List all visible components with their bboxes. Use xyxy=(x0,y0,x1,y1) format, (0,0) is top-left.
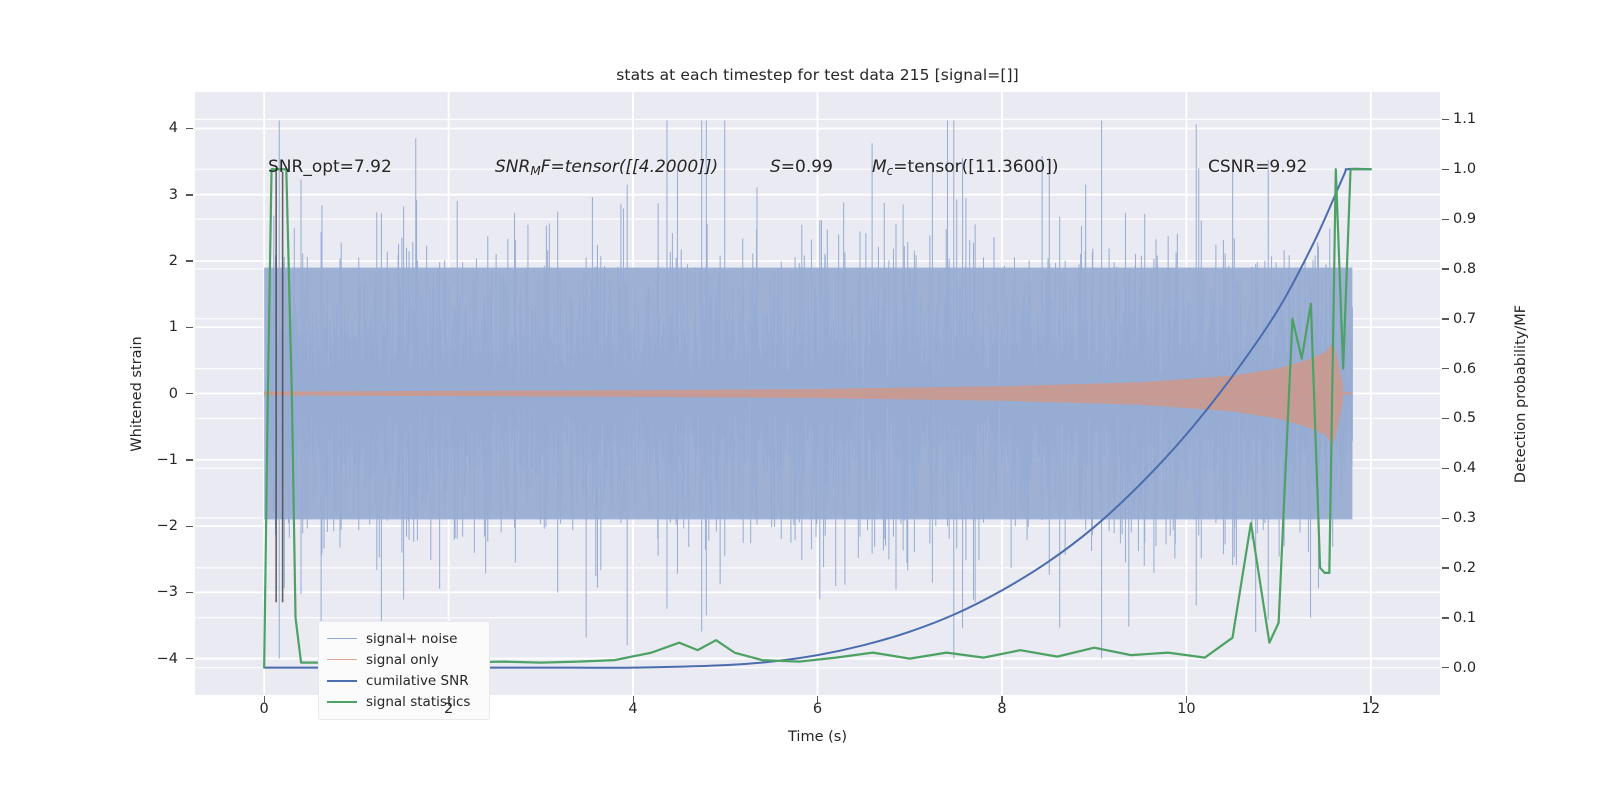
y-tick-mark xyxy=(186,459,193,460)
chart-title: stats at each timestep for test data 215… xyxy=(195,66,1440,84)
y-tick-label: 1 xyxy=(140,319,178,335)
y-tick-label: 3 xyxy=(140,187,178,203)
y2-tick-mark xyxy=(1442,219,1449,220)
y-tick-mark xyxy=(186,526,193,527)
y2-tick-label: 0.8 xyxy=(1453,261,1476,277)
x-axis-label: Time (s) xyxy=(788,729,847,745)
y2-tick-mark xyxy=(1442,468,1449,469)
x-tick-label: 12 xyxy=(1362,701,1380,717)
x-tick-mark xyxy=(264,696,265,703)
y2-tick-mark xyxy=(1442,368,1449,369)
legend-swatch-cumulative-snr xyxy=(327,680,357,682)
x-tick-mark xyxy=(448,696,449,703)
y-tick-label: 2 xyxy=(140,253,178,269)
y-tick-mark xyxy=(186,592,193,593)
y-tick-mark xyxy=(186,658,193,659)
y2-tick-label: 0.4 xyxy=(1453,460,1476,476)
x-tick-label: 8 xyxy=(997,701,1006,717)
legend[interactable]: signal+ noise signal only cumilative SNR… xyxy=(318,621,490,720)
y2-tick-label: 0.6 xyxy=(1453,361,1476,377)
y-tick-mark xyxy=(186,393,193,394)
y-tick-label: 4 xyxy=(140,120,178,136)
y2-tick-mark xyxy=(1442,667,1449,668)
legend-label-cumulative-snr: cumilative SNR xyxy=(366,673,469,689)
legend-item-signal-statistics[interactable]: signal statistics xyxy=(327,691,481,712)
legend-item-signal-noise[interactable]: signal+ noise xyxy=(327,628,481,649)
x-tick-mark xyxy=(1370,696,1371,703)
x-tick-mark xyxy=(633,696,634,703)
x-tick-label: 2 xyxy=(444,701,453,717)
y-tick-label: −4 xyxy=(140,651,178,667)
y2-tick-mark xyxy=(1442,418,1449,419)
figure-canvas: stats at each timestep for test data 215… xyxy=(0,0,1600,800)
y2-tick-mark xyxy=(1442,169,1449,170)
y-tick-label: −2 xyxy=(140,518,178,534)
y-tick-mark xyxy=(186,327,193,328)
plot-svg xyxy=(195,92,1440,695)
y2-tick-mark xyxy=(1442,567,1449,568)
x-tick-label: 10 xyxy=(1177,701,1195,717)
y2-tick-mark xyxy=(1442,318,1449,319)
y2-tick-mark xyxy=(1442,119,1449,120)
y-tick-label: −3 xyxy=(140,584,178,600)
y-tick-label: −1 xyxy=(140,452,178,468)
y2-tick-mark xyxy=(1442,268,1449,269)
legend-item-cumulative-snr[interactable]: cumilative SNR xyxy=(327,670,481,691)
x-tick-mark xyxy=(1186,696,1187,703)
y2-tick-label: 0.0 xyxy=(1453,660,1476,676)
legend-label-signal-only: signal only xyxy=(366,652,439,668)
x-tick-label: 4 xyxy=(628,701,637,717)
y-tick-mark xyxy=(186,128,193,129)
y2-tick-label: 0.3 xyxy=(1453,510,1476,526)
y2-tick-mark xyxy=(1442,617,1449,618)
y2-tick-label: 0.1 xyxy=(1453,610,1476,626)
legend-label-signal-statistics: signal statistics xyxy=(366,694,470,710)
y2-tick-label: 0.9 xyxy=(1453,211,1476,227)
y-tick-mark xyxy=(186,260,193,261)
y2-tick-label: 0.2 xyxy=(1453,560,1476,576)
y2-tick-label: 1.0 xyxy=(1453,161,1476,177)
y-tick-label: 0 xyxy=(140,386,178,402)
y2-axis-label: Detection probability/MF xyxy=(1513,304,1529,482)
y2-tick-mark xyxy=(1442,518,1449,519)
x-tick-label: 6 xyxy=(813,701,822,717)
plot-area xyxy=(195,92,1440,695)
y-tick-mark xyxy=(186,194,193,195)
y2-tick-label: 0.5 xyxy=(1453,410,1476,426)
legend-label-signal-noise: signal+ noise xyxy=(366,631,457,647)
legend-swatch-signal-only xyxy=(327,659,357,660)
legend-item-signal-only[interactable]: signal only xyxy=(327,649,481,670)
y2-tick-label: 0.7 xyxy=(1453,311,1476,327)
x-tick-label: 0 xyxy=(260,701,269,717)
y2-tick-label: 1.1 xyxy=(1453,111,1476,127)
x-tick-mark xyxy=(817,696,818,703)
legend-swatch-signal-noise xyxy=(327,638,357,639)
legend-swatch-signal-statistics xyxy=(327,701,357,703)
x-tick-mark xyxy=(1001,696,1002,703)
